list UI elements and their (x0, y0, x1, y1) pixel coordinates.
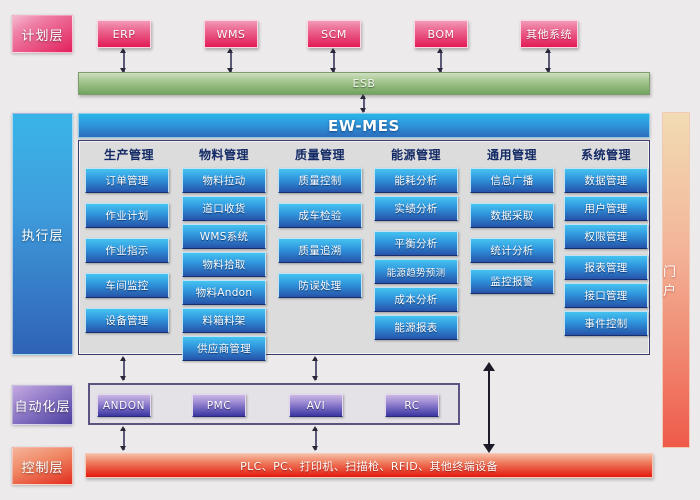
plan-system-bom[interactable]: BOM (414, 20, 468, 48)
architecture-diagram: 计划层 执行层 自动化层 控制层 ERP WMS SCM BOM 其他系统 ES… (0, 0, 700, 500)
mes-module-energy-3[interactable]: 平衡分析 (374, 231, 458, 256)
mes-module-quality-3[interactable]: 质量追溯 (278, 238, 362, 263)
mes-module-material-5[interactable]: 物料Andon (182, 280, 266, 305)
mes-module-energy-5[interactable]: 成本分析 (374, 287, 458, 312)
connector-mes-automation-right-arrow-up (312, 356, 318, 361)
mes-module-general-3[interactable]: 统计分析 (470, 238, 554, 263)
mes-module-system-2[interactable]: 用户管理 (564, 196, 648, 221)
layer-label-plan: 计划层 (12, 15, 73, 53)
connector-other-esb-arrow-up (545, 48, 551, 53)
mes-module-material-7[interactable]: 供应商管理 (182, 336, 266, 361)
connector-mes-automation-right-arrow-down (312, 376, 318, 381)
plan-system-erp[interactable]: ERP (97, 20, 151, 48)
connector-automation-control-right-arrow-down (312, 446, 318, 451)
mes-column-header-quality: 质量管理 (276, 146, 364, 163)
mes-module-system-1[interactable]: 数据管理 (564, 168, 648, 193)
control-layer-bar[interactable]: PLC、PC、打印机、扫描枪、RFID、其他终端设备 (85, 453, 653, 478)
automation-item-pmc[interactable]: PMC (192, 394, 246, 417)
mes-column-header-material: 物料管理 (180, 146, 268, 163)
connector-erp-esb-arrow-up (120, 48, 126, 53)
mes-module-production-1[interactable]: 订单管理 (85, 168, 169, 193)
connector-automation-control-right-arrow-up (312, 426, 318, 431)
mes-module-general-2[interactable]: 数据采取 (470, 203, 554, 228)
mes-module-system-6[interactable]: 事件控制 (564, 311, 648, 336)
plan-system-scm[interactable]: SCM (307, 20, 361, 48)
connector-mes-control-arrow-up (483, 362, 495, 371)
mes-module-production-3[interactable]: 作业指示 (85, 238, 169, 263)
mes-column-header-general: 通用管理 (468, 146, 556, 163)
connector-wms-esb-arrow-up (227, 48, 233, 53)
connector-scm-esb-arrow-up (330, 48, 336, 53)
layer-label-execution: 执行层 (12, 113, 73, 355)
mes-module-production-5[interactable]: 设备管理 (85, 308, 169, 333)
mes-module-energy-1[interactable]: 能耗分析 (374, 168, 458, 193)
mes-module-energy-6[interactable]: 能源报表 (374, 315, 458, 340)
mes-module-material-3[interactable]: WMS系统 (182, 224, 266, 249)
mes-module-system-4[interactable]: 报表管理 (564, 255, 648, 280)
connector-bom-esb-arrow-up (437, 48, 443, 53)
layer-label-automation: 自动化层 (12, 385, 73, 425)
connector-automation-control-left-arrow-down (120, 446, 126, 451)
mes-module-material-1[interactable]: 物料拉动 (182, 168, 266, 193)
esb-label: ESB (79, 77, 649, 90)
mes-column-header-production: 生产管理 (85, 146, 173, 163)
automation-item-avi[interactable]: AVI (289, 394, 343, 417)
connector-mes-automation-left-arrow-up (120, 356, 126, 361)
connector-mes-control-arrow-down (483, 444, 495, 453)
mes-module-system-3[interactable]: 权限管理 (564, 224, 648, 249)
mes-title-bar: EW-MES (78, 113, 650, 138)
connector-mes-automation-left-arrow-down (120, 376, 126, 381)
esb-bar[interactable]: ESB (78, 72, 650, 95)
mes-module-material-6[interactable]: 料箱料架 (182, 308, 266, 333)
control-layer-label: PLC、PC、打印机、扫描枪、RFID、其他终端设备 (86, 458, 652, 474)
mes-module-material-4[interactable]: 物料拾取 (182, 252, 266, 277)
connector-esb-mes-arrow-up (360, 94, 366, 99)
mes-module-quality-2[interactable]: 成车检验 (278, 203, 362, 228)
mes-module-quality-4[interactable]: 防误处理 (278, 273, 362, 298)
portal-label: 门户 (663, 261, 689, 299)
connector-automation-control-left-arrow-up (120, 426, 126, 431)
automation-item-rc[interactable]: RC (385, 394, 439, 417)
mes-module-system-5[interactable]: 接口管理 (564, 283, 648, 308)
mes-module-energy-2[interactable]: 实绩分析 (374, 196, 458, 221)
mes-module-quality-1[interactable]: 质量控制 (278, 168, 362, 193)
plan-system-other[interactable]: 其他系统 (520, 20, 578, 48)
portal-bar[interactable]: 门户 (662, 112, 690, 448)
mes-column-header-energy: 能源管理 (372, 146, 460, 163)
mes-module-production-4[interactable]: 车间监控 (85, 273, 169, 298)
mes-module-general-1[interactable]: 信息广播 (470, 168, 554, 193)
mes-module-production-2[interactable]: 作业计划 (85, 203, 169, 228)
mes-column-header-system: 系统管理 (562, 146, 650, 163)
automation-item-andon[interactable]: ANDON (97, 394, 151, 417)
mes-module-general-4[interactable]: 监控报警 (470, 269, 554, 294)
connector-mes-control (488, 370, 490, 450)
layer-label-control: 控制层 (12, 447, 73, 485)
plan-system-wms[interactable]: WMS (204, 20, 258, 48)
mes-module-material-2[interactable]: 道口收货 (182, 196, 266, 221)
mes-module-energy-4[interactable]: 能源趋势预测 (374, 259, 458, 284)
